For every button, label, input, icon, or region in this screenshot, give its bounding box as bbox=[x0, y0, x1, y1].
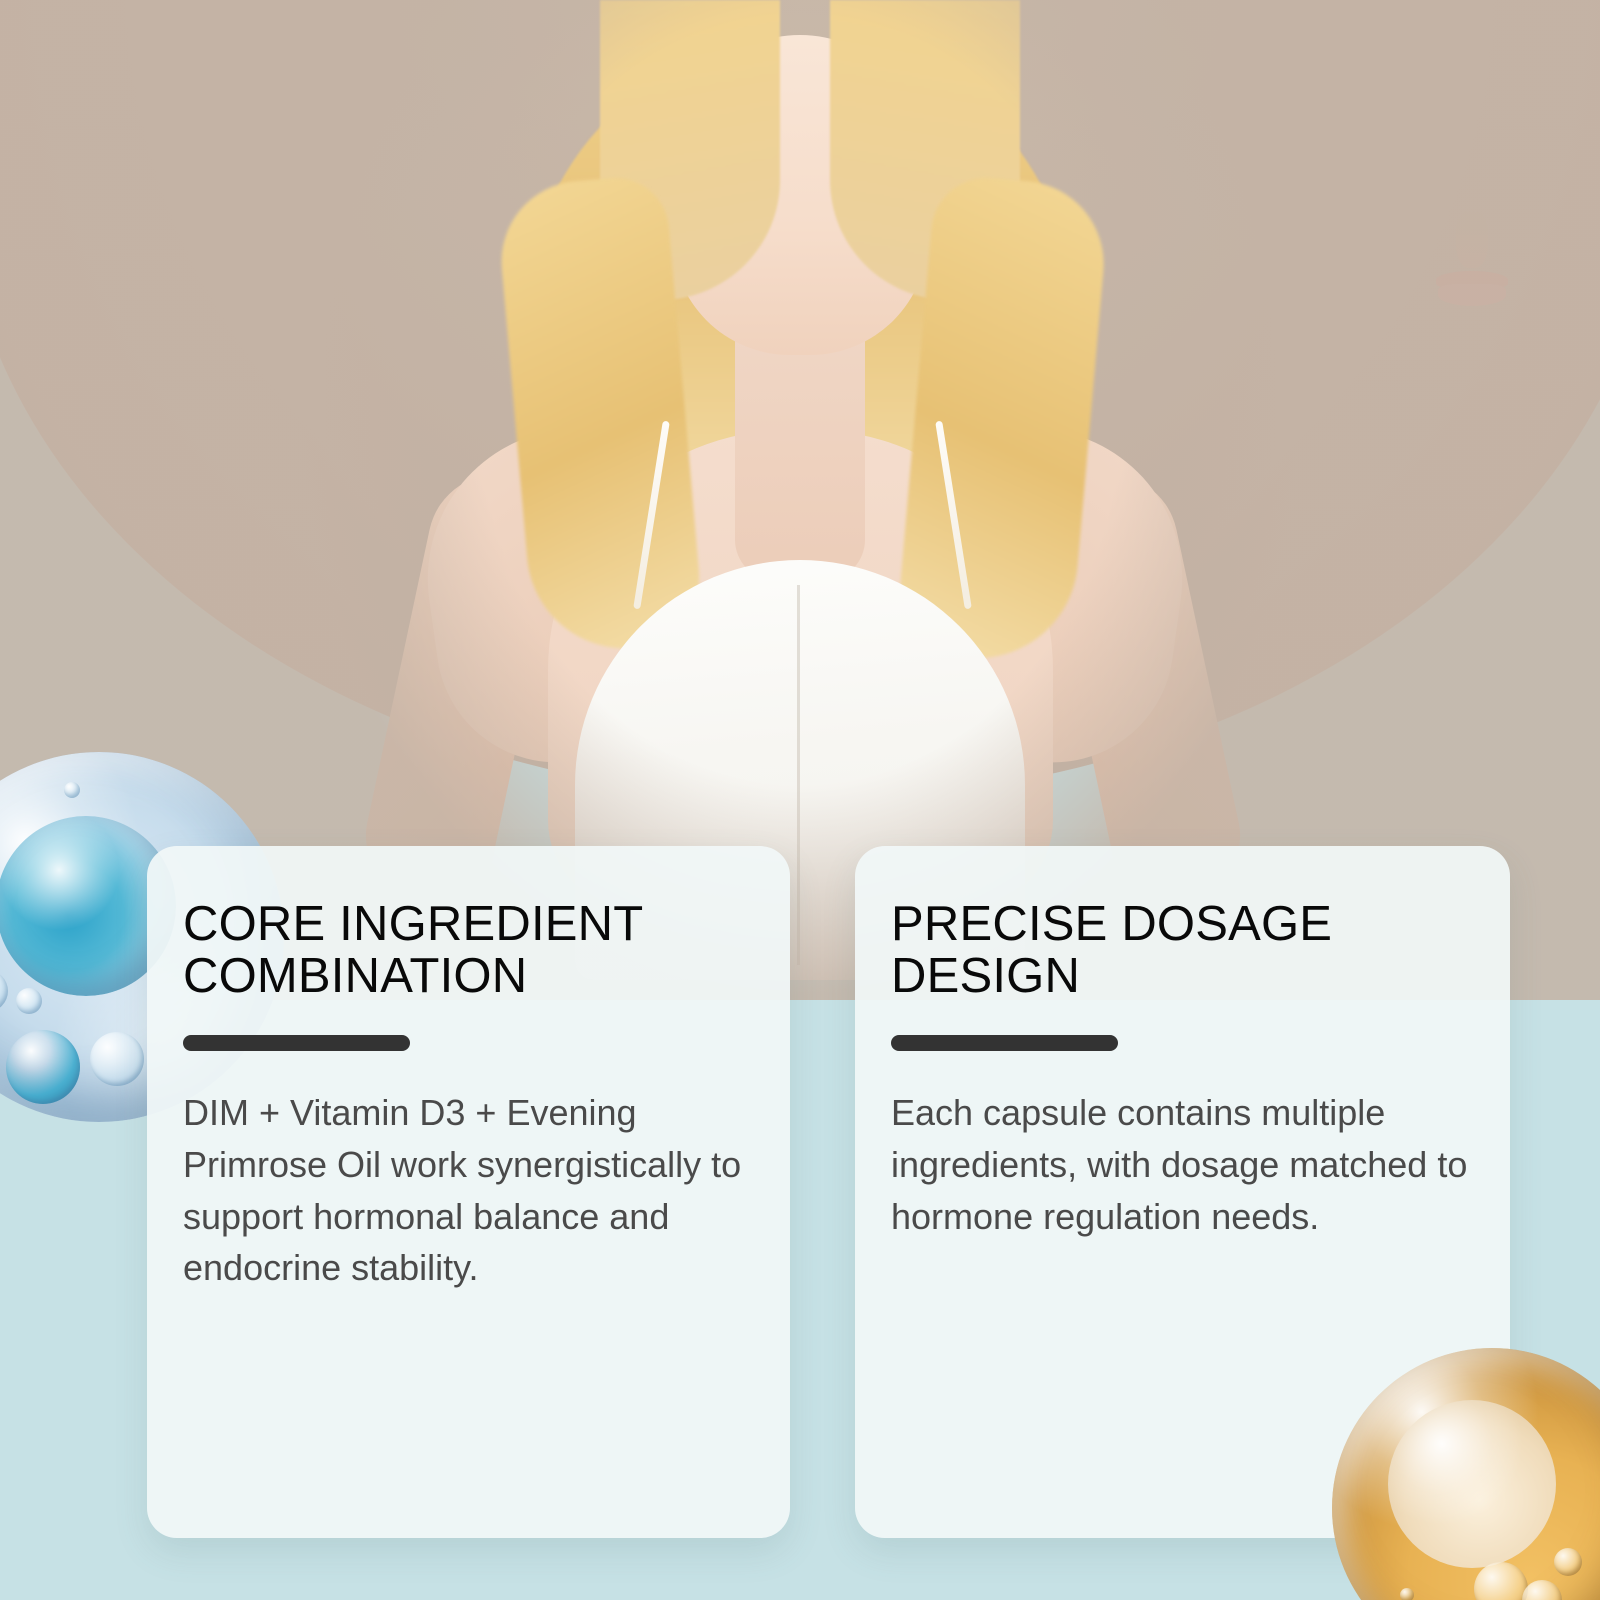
model-nose bbox=[1456, 210, 1488, 268]
card-divider bbox=[891, 1035, 1118, 1051]
blue-bubble bbox=[0, 970, 8, 1012]
blue-bubble bbox=[90, 1032, 144, 1086]
card-divider bbox=[183, 1035, 410, 1051]
gold-bubble bbox=[1554, 1548, 1582, 1576]
model-lower-lip bbox=[1438, 284, 1506, 306]
card-body: DIM + Vitamin D3 + Evening Primrose Oil … bbox=[183, 1087, 754, 1294]
feature-card-core-ingredient: CORE INGREDIENT COMBINATION DIM + Vitami… bbox=[147, 846, 790, 1538]
card-title: PRECISE DOSAGE DESIGN bbox=[891, 898, 1474, 1003]
blue-bubble bbox=[16, 988, 42, 1014]
blue-bubble bbox=[64, 782, 80, 798]
infographic-stage: CORE INGREDIENT COMBINATION DIM + Vitami… bbox=[0, 0, 1600, 1600]
card-title: CORE INGREDIENT COMBINATION bbox=[183, 898, 754, 1003]
gold-bubble bbox=[1522, 1580, 1562, 1600]
gold-bubble bbox=[1474, 1562, 1528, 1600]
blue-bubble bbox=[6, 1030, 80, 1104]
gold-bubble bbox=[1400, 1588, 1414, 1600]
dress-center-seam bbox=[797, 585, 800, 965]
gold-sphere-core bbox=[1388, 1400, 1556, 1568]
card-body: Each capsule contains multiple ingredien… bbox=[891, 1087, 1474, 1242]
